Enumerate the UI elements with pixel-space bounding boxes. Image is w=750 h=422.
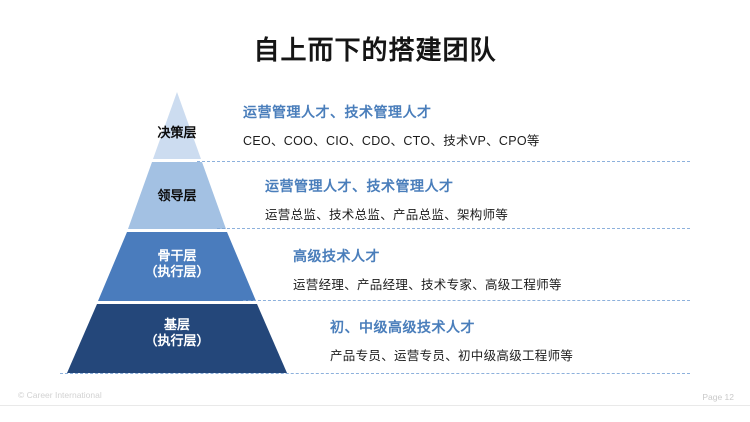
pyramid-layer-3-label: 骨干层 （执行层） bbox=[97, 248, 257, 281]
row-1-detail: CEO、COO、CIO、CDO、CTO、技术VP、CPO等 bbox=[243, 130, 540, 149]
page-number: Page 12 bbox=[702, 392, 734, 402]
copyright-text: © Career International bbox=[18, 390, 102, 400]
row-2-heading: 运营管理人才、技术管理人才 bbox=[265, 176, 508, 196]
row-text-3: 高级技术人才 运营经理、产品经理、技术专家、高级工程师等 bbox=[293, 246, 562, 293]
row-text-2: 运营管理人才、技术管理人才 运营总监、技术总监、产品总监、架构师等 bbox=[265, 176, 508, 223]
slide-canvas: 自上而下的搭建团队 决策层 领导层 骨干层 （执行层） 基层 （执行层） 运营管… bbox=[0, 0, 750, 422]
page-title: 自上而下的搭建团队 bbox=[0, 30, 750, 67]
pyramid-layer-4-label: 基层 （执行层） bbox=[97, 317, 257, 350]
pyramid-layer-2-label: 领导层 bbox=[97, 188, 257, 204]
row-text-4: 初、中级高级技术人才 产品专员、运营专员、初中级高级工程师等 bbox=[330, 317, 573, 364]
footer-divider bbox=[0, 405, 750, 406]
pyramid-layer-1-label: 决策层 bbox=[97, 125, 257, 141]
row-text-1: 运营管理人才、技术管理人才 CEO、COO、CIO、CDO、CTO、技术VP、C… bbox=[243, 102, 540, 149]
divider-line-2 bbox=[217, 228, 690, 229]
row-4-heading: 初、中级高级技术人才 bbox=[330, 317, 573, 337]
row-2-detail: 运营总监、技术总监、产品总监、架构师等 bbox=[265, 204, 508, 223]
divider-line-3 bbox=[243, 300, 690, 301]
row-3-detail: 运营经理、产品经理、技术专家、高级工程师等 bbox=[293, 274, 562, 293]
row-3-heading: 高级技术人才 bbox=[293, 246, 562, 266]
row-1-heading: 运营管理人才、技术管理人才 bbox=[243, 102, 540, 122]
divider-line-1 bbox=[197, 161, 690, 162]
row-4-detail: 产品专员、运营专员、初中级高级工程师等 bbox=[330, 345, 573, 364]
divider-line-4 bbox=[60, 373, 690, 374]
